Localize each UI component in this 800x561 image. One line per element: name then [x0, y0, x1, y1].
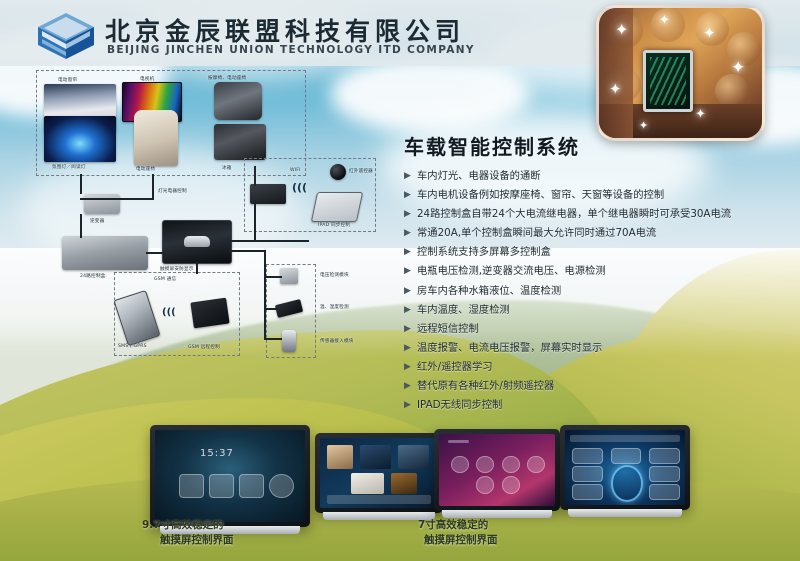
bullet-icon: ▶	[404, 322, 417, 336]
ir-remote-label: 红外遥控器	[349, 168, 373, 174]
list-item: ▶电瓶电压检测,逆变器交流电压、电源检测	[404, 264, 796, 278]
ipad-label: IPAD 同步控制	[318, 222, 350, 228]
tablet-media-grid[interactable]	[315, 433, 443, 513]
lighting-bus-label: 灯光电器控制	[158, 188, 187, 194]
feature-text: 24路控制盒自带24个大电流继电器，单个继电器瞬时可承受30A电流	[417, 207, 731, 221]
panel-title: 车载智能控制系统	[404, 131, 796, 160]
bullet-icon: ▶	[404, 245, 417, 259]
wifi-router-thumb	[250, 184, 286, 204]
media-toolbar[interactable]	[327, 495, 431, 503]
media-tile[interactable]	[391, 473, 417, 494]
dashboard-tile[interactable]	[572, 466, 603, 482]
sensor-label: 传感器接入模块	[320, 338, 354, 344]
ambient-light-thumb	[44, 116, 116, 162]
feature-text: 替代原有各种红外/射频遥控器	[417, 379, 554, 393]
tablet-screen[interactable]: 15:37	[155, 430, 305, 522]
list-item: ▶温度报警、电流电压报警，屏幕实时显示	[404, 341, 796, 355]
system-architecture-diagram: 电动窗帘 电视机 按摩椅、电动座椅 氛围灯／阅读灯 电动座椅 冰箱 ((( WI…	[18, 68, 386, 358]
app-icon[interactable]	[502, 456, 520, 474]
feature-text: IPAD无线同步控制	[417, 398, 502, 412]
controller-label: 24路控制盒	[80, 273, 105, 279]
touch-display-label: 触摸屏安防显示	[160, 266, 194, 272]
wifi-label: WIFI	[290, 168, 301, 173]
poster-root: 北京金辰联盟科技有限公司 BEIJING JINCHEN UNION TECHN…	[0, 0, 800, 561]
list-item: ▶控制系统支持多屏幕多控制盒	[404, 245, 796, 259]
app-icon[interactable]	[476, 456, 494, 474]
device-label: 氛围灯／阅读灯	[52, 164, 86, 170]
tablet-stand	[442, 510, 553, 518]
device-label: 按摩椅、电动座椅	[208, 75, 246, 81]
gsm-module-thumb	[190, 298, 229, 329]
inverter-thumb	[84, 194, 120, 214]
device-label: 冰箱	[222, 165, 232, 171]
clock-readout: 15:37	[200, 448, 234, 459]
list-item: ▶车内电机设备例如按摩座椅、窗帘、天窗等设备的控制	[404, 188, 796, 202]
device-label: 电视机	[140, 76, 154, 82]
voltage-module-thumb	[280, 268, 298, 284]
ipad-thumb	[311, 192, 363, 222]
bullet-icon: ▶	[404, 188, 417, 202]
bullet-icon: ▶	[404, 303, 417, 317]
caption-left-line1: 9.7寸高效稳定的	[142, 518, 224, 533]
feature-text: 常通20A,单个控制盒瞬间最大允许同时通过70A电流	[417, 226, 656, 240]
ir-remote-thumb	[330, 164, 346, 180]
list-item: ▶IPAD无线同步控制	[404, 398, 796, 412]
mounted-display-icon	[643, 50, 693, 112]
list-item: ▶红外/遥控器学习	[404, 360, 796, 374]
tablet-screen[interactable]	[565, 430, 685, 505]
bullet-icon: ▶	[404, 226, 417, 240]
tablet-screen[interactable]	[320, 438, 438, 508]
wifi-icon: (((	[292, 182, 307, 193]
feature-text: 电瓶电压检测,逆变器交流电压、电源检测	[417, 264, 606, 278]
app-icon[interactable]	[209, 474, 234, 498]
list-item: ▶远程短信控制	[404, 322, 796, 336]
gsm-phone-label: SMS / GPRS	[118, 344, 147, 349]
feature-text: 车内灯光、电器设备的通断	[417, 169, 541, 183]
tablet-97-clock-home[interactable]: 15:37	[150, 425, 310, 527]
dashboard-gauge	[611, 465, 644, 502]
dashboard-tile[interactable]	[649, 448, 680, 464]
dashboard-tile[interactable]	[572, 484, 603, 500]
sensor-label: 温、湿度检测	[320, 304, 349, 310]
gsm-module-label: GSM 远程控制	[188, 344, 220, 350]
caption-left-line2: 触摸屏控制界面	[160, 533, 234, 548]
feature-text: 控制系统支持多屏幕多控制盒	[417, 245, 551, 259]
list-item: ▶替代原有各种红外/射频遥控器	[404, 379, 796, 393]
inverter-label: 逆变器	[90, 218, 104, 224]
feature-text: 远程短信控制	[417, 322, 479, 336]
app-icon[interactable]	[476, 476, 494, 494]
app-icon[interactable]	[527, 456, 545, 474]
dashboard-tile[interactable]	[649, 484, 680, 500]
caption-right-line1: 7寸高效稳定的	[418, 518, 488, 533]
feature-list: ▶车内灯光、电器设备的通断 ▶车内电机设备例如按摩座椅、窗帘、天窗等设备的控制 …	[404, 169, 796, 412]
company-name-en: BEIJING JINCHEN UNION TECHNOLOGY ITD COM…	[107, 44, 475, 56]
list-item: ▶车内灯光、电器设备的通断	[404, 169, 796, 183]
power-seat-thumb	[134, 110, 178, 166]
bullet-icon: ▶	[404, 341, 417, 355]
caption-right-line2: 触摸屏控制界面	[424, 533, 498, 548]
list-item: ▶24路控制盒自带24个大电流继电器，单个继电器瞬时可承受30A电流	[404, 207, 796, 221]
feature-text: 红外/遥控器学习	[417, 360, 493, 374]
dashboard-header	[570, 435, 680, 443]
bullet-icon: ▶	[404, 284, 417, 298]
app-icon[interactable]	[502, 476, 520, 494]
controller-box-thumb	[62, 236, 148, 270]
feature-text: 房车内各种水箱液位、温度检测	[417, 284, 561, 298]
gsm-link-label: GSM 通信	[154, 276, 176, 282]
device-label: 电动座椅	[136, 166, 155, 172]
app-icon[interactable]	[179, 474, 204, 498]
prism-cube-logo-icon	[36, 11, 96, 61]
bullet-icon: ▶	[404, 169, 417, 183]
dashboard-tile[interactable]	[649, 466, 680, 482]
tablet-purple-launcher[interactable]	[434, 429, 560, 511]
bullet-icon: ▶	[404, 398, 417, 412]
wifi-icon: (((	[162, 308, 176, 318]
massage-chair-thumb	[214, 82, 262, 120]
tablet-stand	[568, 509, 682, 517]
company-name-cn: 北京金辰联盟科技有限公司	[105, 12, 465, 48]
feature-text: 温度报警、电流电压报警，屏幕实时显示	[417, 341, 602, 355]
media-tile[interactable]	[327, 445, 353, 469]
media-tile[interactable]	[351, 473, 384, 494]
list-item: ▶房车内各种水箱液位、温度检测	[404, 284, 796, 298]
media-tile[interactable]	[398, 445, 429, 469]
list-item: ▶常通20A,单个控制盒瞬间最大允许同时通过70A电流	[404, 226, 796, 240]
sensor-input-module-thumb	[282, 330, 296, 352]
feature-text: 车内温度、湿度检测	[417, 303, 510, 317]
dashboard-tile[interactable]	[572, 448, 603, 464]
fridge-thumb	[214, 124, 266, 160]
bullet-icon: ▶	[404, 207, 417, 221]
app-icon[interactable]	[269, 474, 294, 498]
bullet-icon: ▶	[404, 360, 417, 374]
dashboard-tile[interactable]	[611, 448, 642, 464]
tablet-screen[interactable]	[439, 434, 555, 506]
list-item: ▶车内温度、湿度检测	[404, 303, 796, 317]
vehicle-interior-photo: ✦ ✦ ✦ ✦ ✦ ✦ ✦	[596, 5, 765, 141]
bullet-icon: ▶	[404, 379, 417, 393]
app-icon[interactable]	[451, 456, 469, 474]
media-tile[interactable]	[360, 445, 391, 469]
app-icon[interactable]	[239, 474, 264, 498]
feature-text: 车内电机设备例如按摩座椅、窗帘、天窗等设备的控制	[417, 188, 664, 202]
bullet-icon: ▶	[404, 264, 417, 278]
feature-panel: 车载智能控制系统 ▶车内灯光、电器设备的通断 ▶车内电机设备例如按摩座椅、窗帘、…	[404, 131, 796, 417]
sensor-label: 电压检测模块	[320, 272, 349, 278]
tablet-blue-dashboard[interactable]	[560, 425, 690, 510]
device-label: 电动窗帘	[58, 77, 77, 83]
